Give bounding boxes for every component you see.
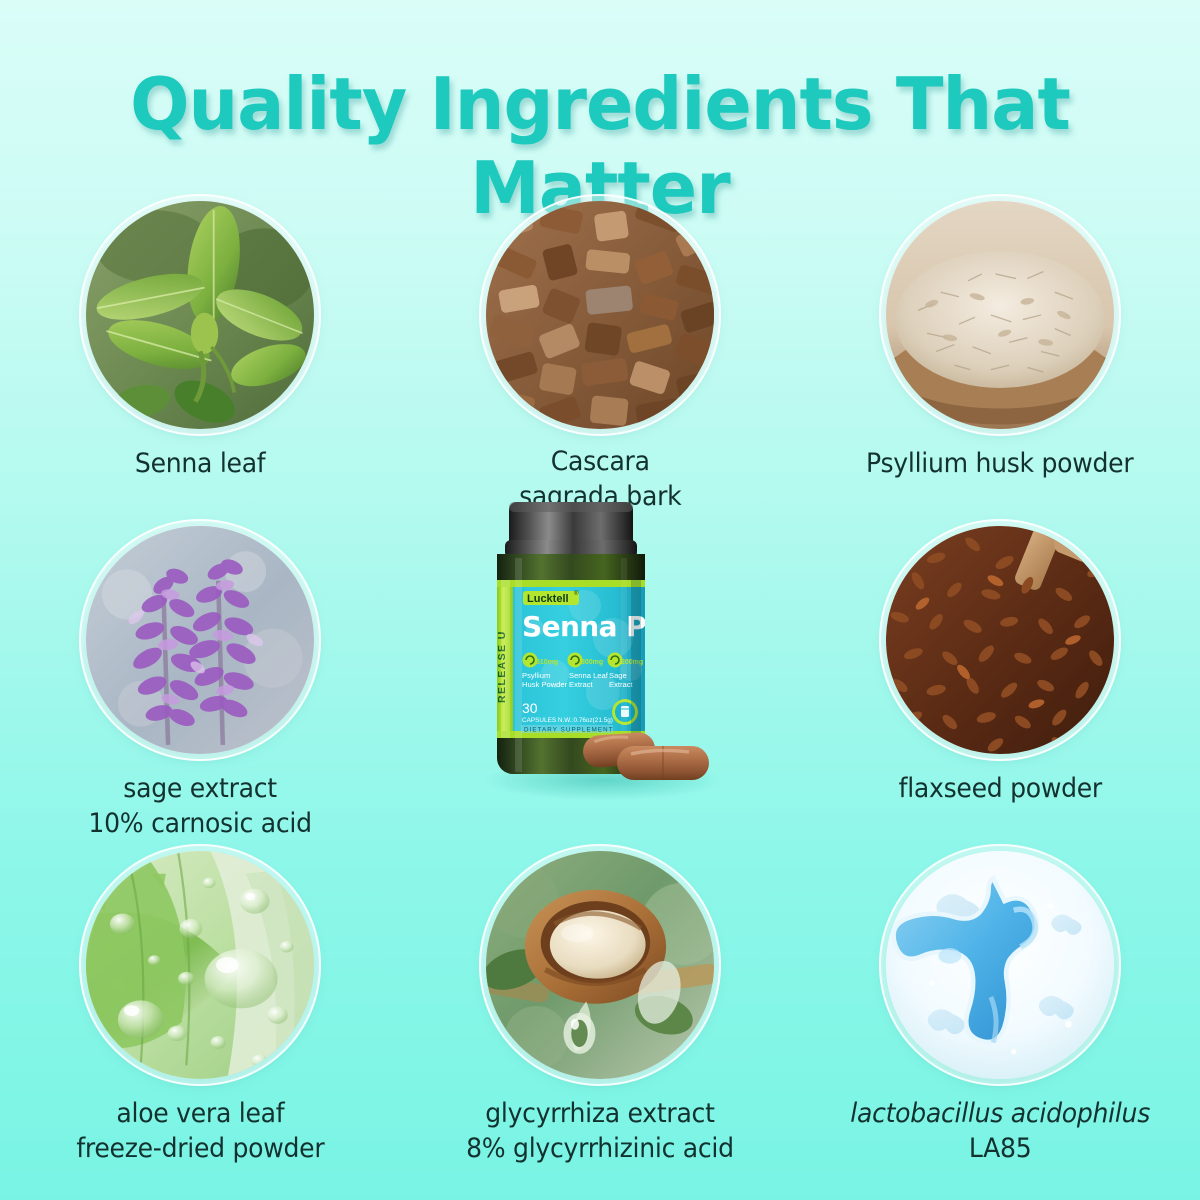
svg-text:Extract: Extract [569, 680, 594, 689]
ingredient-caption-sage-extract: sage extract 10% carnosic acid [88, 772, 311, 841]
caption-line-2: freeze-dried powder [76, 1132, 324, 1167]
ingredient-image-cascara-sagrada-bark [486, 201, 714, 429]
ingredient-caption-glycyrrhiza-extract: glycyrrhiza extract 8% glycyrrhizinic ac… [466, 1097, 734, 1166]
senna-leaf-photo [86, 201, 314, 429]
ingredient-grid: Senna leaf [0, 195, 1200, 1200]
svg-text:Senna Leaf: Senna Leaf [569, 671, 609, 680]
bottle-brand: Lucktell [527, 593, 569, 605]
aloe-vera-photo [86, 851, 314, 1079]
ingredient-image-glycyrrhiza-extract [486, 851, 714, 1079]
svg-text:Husk Powder: Husk Powder [522, 680, 568, 689]
ingredient-cell-glycyrrhiza-extract: glycyrrhiza extract 8% glycyrrhizinic ac… [400, 845, 800, 1170]
probiotic-illustration [886, 851, 1114, 1079]
caption-line-1: Senna leaf [135, 447, 265, 482]
ingredient-caption-senna-leaf: Senna leaf [135, 447, 265, 482]
capsule-front [617, 746, 709, 780]
ingredient-cell-aloe-vera-leaf: aloe vera leaf freeze-dried powder [0, 845, 400, 1170]
ingredient-image-aloe-vera-leaf [86, 851, 314, 1079]
ingredient-cell-psyllium-husk-powder: Psyllium husk powder [800, 195, 1200, 520]
svg-text:510mg: 510mg [536, 659, 558, 666]
ingredient-image-flaxseed-powder [886, 526, 1114, 754]
ingredient-cell-cascara-sagrada-bark: Cascara sagrada bark [400, 195, 800, 520]
bottle-net-weight: CAPSULES N.W.:0.76oz(21.5g) [522, 717, 613, 724]
ingredient-cell-senna-leaf: Senna leaf [0, 195, 400, 520]
caption-line-1: flaxseed powder [898, 772, 1101, 807]
licorice-root-photo [486, 851, 714, 1079]
svg-text:300mg: 300mg [581, 659, 603, 666]
bottle-supplement-label: DIETARY SUPPLEMENT [524, 727, 614, 734]
caption-line-1: glycyrrhiza extract [466, 1097, 734, 1132]
product-showcase: RELEASE U Lucktell ® Senna Plus 510mg [400, 520, 800, 845]
ingredient-image-senna-leaf [86, 201, 314, 429]
ingredient-image-lactobacillus-acidophilus [886, 851, 1114, 1079]
ingredient-image-sage-extract [86, 526, 314, 754]
caption-line-1: Psyllium husk powder [866, 447, 1133, 482]
svg-text:Psyllium: Psyllium [522, 671, 550, 680]
ingredient-image-psyllium-husk-powder [886, 201, 1114, 429]
infographic-canvas: Quality Ingredients That Matter [0, 0, 1200, 1200]
caption-line-1: Cascara [519, 445, 681, 480]
caption-line-2: 10% carnosic acid [88, 807, 311, 842]
caption-line-1: sage extract [88, 772, 311, 807]
ingredient-caption-psyllium-husk-powder: Psyllium husk powder [866, 447, 1133, 482]
flaxseed-photo [886, 526, 1114, 754]
product-bottle: RELEASE U Lucktell ® Senna Plus 510mg [435, 488, 765, 813]
ingredient-caption-flaxseed-powder: flaxseed powder [898, 772, 1101, 807]
sage-flower-photo [86, 526, 314, 754]
caption-line-2: LA85 [850, 1132, 1150, 1167]
ingredient-caption-lactobacillus-acidophilus: lactobacillus acidophilus LA85 [850, 1097, 1150, 1166]
ingredient-cell-lactobacillus-acidophilus: lactobacillus acidophilus LA85 [800, 845, 1200, 1170]
bottle-product-name: Senna Plus [522, 610, 690, 643]
cascara-bark-photo [486, 201, 714, 429]
ingredient-caption-aloe-vera-leaf: aloe vera leaf freeze-dried powder [76, 1097, 324, 1166]
ingredient-cell-sage-extract: sage extract 10% carnosic acid [0, 520, 400, 845]
psyllium-husk-photo [886, 201, 1114, 429]
ingredient-cell-flaxseed-powder: flaxseed powder [800, 520, 1200, 845]
bottle-count: 30 [522, 700, 538, 716]
caption-line-2: 8% glycyrrhizinic acid [466, 1132, 734, 1167]
caption-line-1: lactobacillus acidophilus [850, 1097, 1150, 1132]
caption-line-1: aloe vera leaf [76, 1097, 324, 1132]
svg-text:®: ® [574, 590, 579, 597]
